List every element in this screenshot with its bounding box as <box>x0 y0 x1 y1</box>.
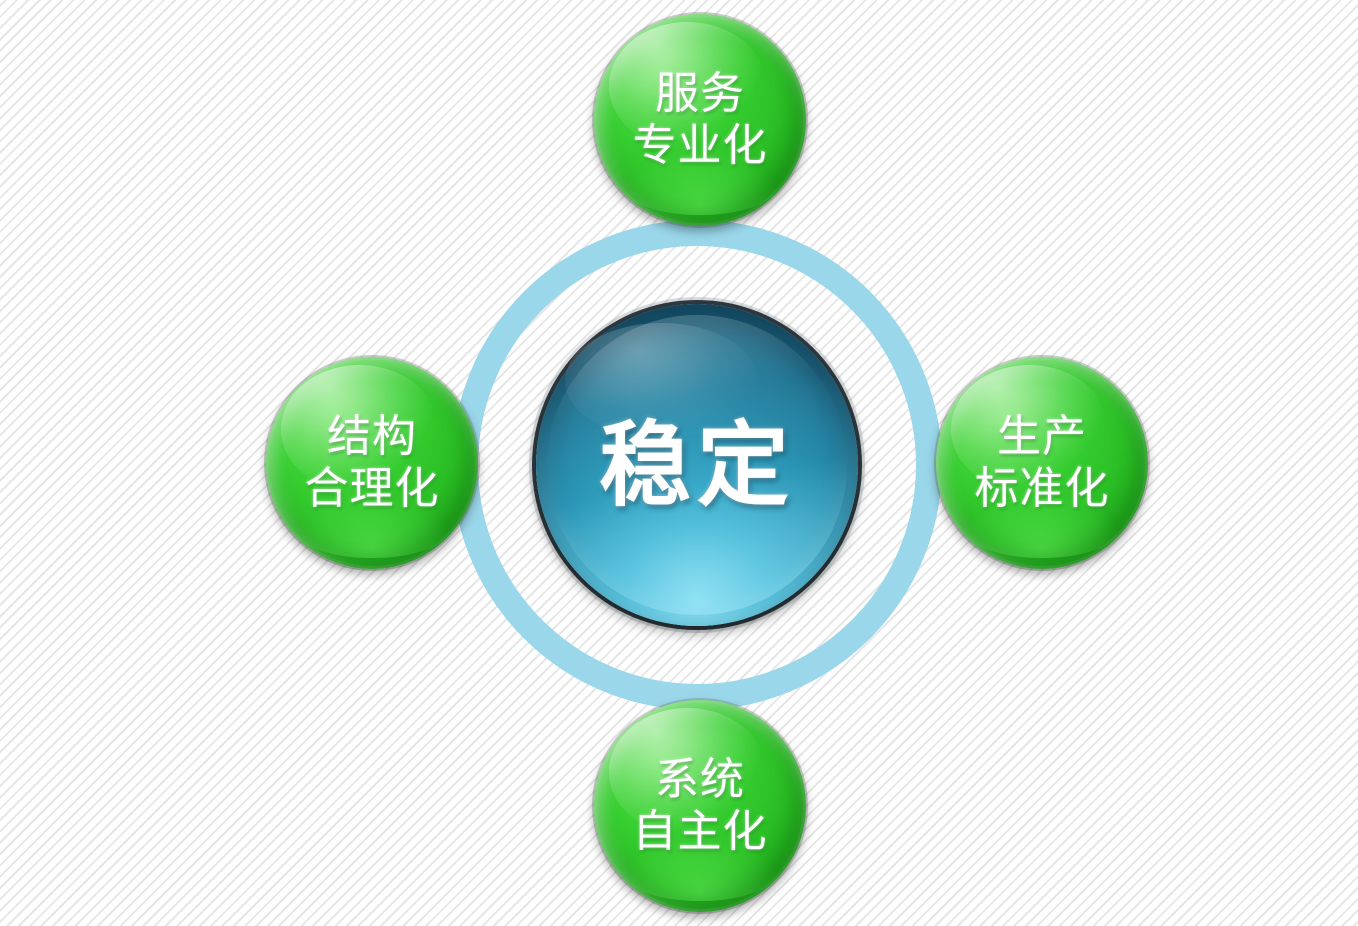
node-top-label: 服务 专业化 <box>633 68 768 172</box>
node-top-service[interactable]: 服务 专业化 <box>594 14 806 226</box>
node-left-label: 结构 合理化 <box>305 411 440 515</box>
node-center-hub[interactable]: 稳定 <box>536 304 858 626</box>
node-bottom-system[interactable]: 系统 自主化 <box>594 700 806 912</box>
node-right-label: 生产 标准化 <box>975 411 1110 515</box>
node-center-label: 稳定 <box>599 411 795 520</box>
diagram-canvas: 服务 专业化 生产 标准化 系统 自主化 结构 合理化 稳定 <box>0 0 1358 926</box>
node-left-structure[interactable]: 结构 合理化 <box>266 357 478 569</box>
node-bottom-label: 系统 自主化 <box>633 754 768 858</box>
node-right-production[interactable]: 生产 标准化 <box>936 357 1148 569</box>
